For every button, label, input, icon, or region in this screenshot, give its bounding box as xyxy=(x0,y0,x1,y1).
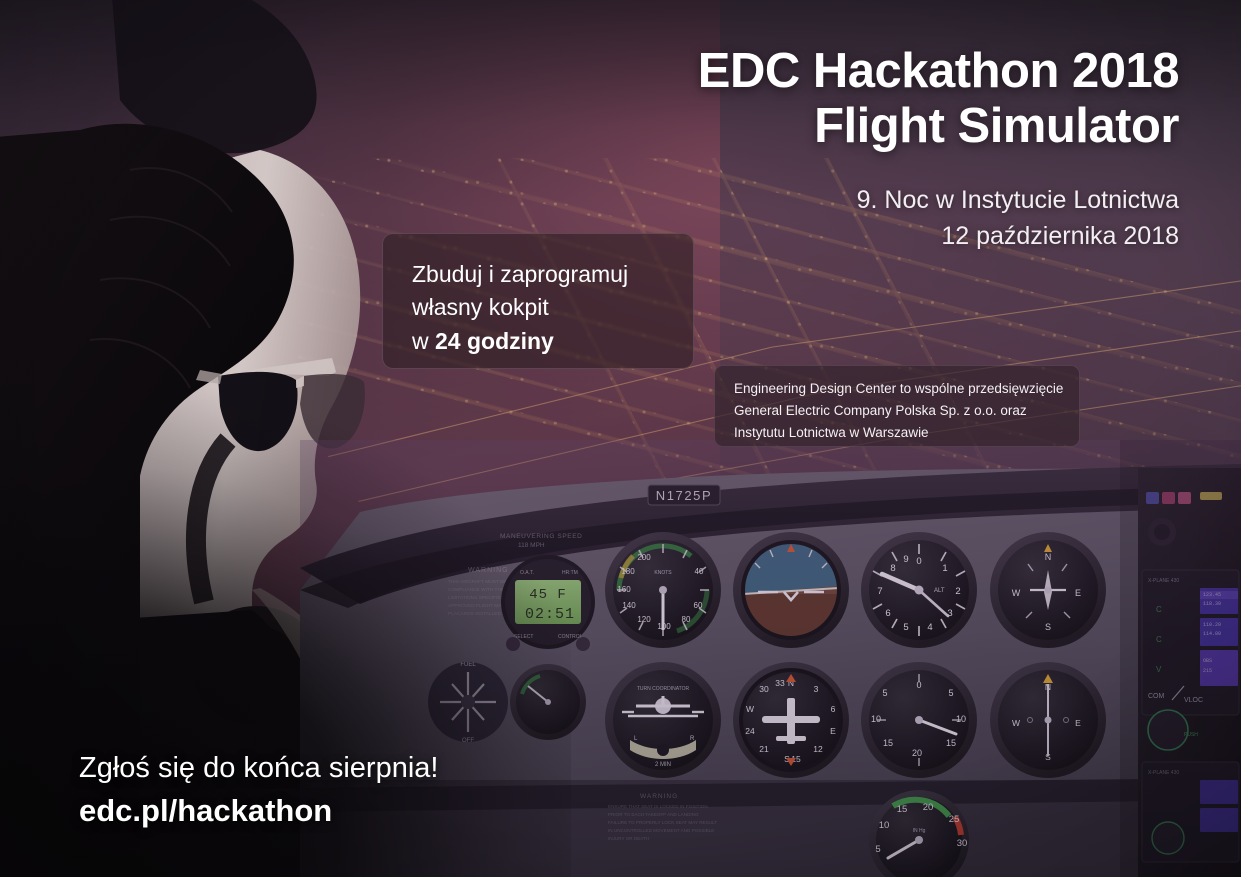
challenge-callout-box: Zbuduj i zaprogramuj własny kokpit w 24 … xyxy=(382,233,694,369)
callout-duration: 24 godziny xyxy=(435,328,554,354)
infobox-line-2: General Electric Company Polska Sp. z o.… xyxy=(734,400,1063,422)
headline-line-2: Flight Simulator xyxy=(698,99,1179,154)
page-title: EDC Hackathon 2018 Flight Simulator xyxy=(698,44,1179,154)
poster-root: N1725P MANEUVERING SPEED 118 MPH WARNING… xyxy=(0,0,1241,877)
callout-line-3: w 24 godziny xyxy=(412,325,667,358)
event-subtitle: 9. Noc w Instytucie Lotnictwa 12 paździe… xyxy=(857,183,1179,254)
callout-line-2: własny kokpit xyxy=(412,291,667,324)
cta-deadline-text: Zgłoś się do końca sierpnia! xyxy=(79,751,438,786)
headline-line-1: EDC Hackathon 2018 xyxy=(698,44,1179,98)
content-layer: EDC Hackathon 2018 Flight Simulator 9. N… xyxy=(0,0,1241,877)
infobox-line-1: Engineering Design Center to wspólne prz… xyxy=(734,378,1063,400)
infobox-line-3: Instytutu Lotnictwa w Warszawie xyxy=(734,422,1063,444)
event-date: 12 października 2018 xyxy=(857,219,1179,255)
callout-prefix: w xyxy=(412,328,435,354)
cta-url-link[interactable]: edc.pl/hackathon xyxy=(79,791,438,831)
callout-line-1: Zbuduj i zaprogramuj xyxy=(412,258,667,291)
event-name: 9. Noc w Instytucie Lotnictwa xyxy=(857,183,1179,219)
call-to-action: Zgłoś się do końca sierpnia! edc.pl/hack… xyxy=(79,751,438,832)
organizer-info-box: Engineering Design Center to wspólne prz… xyxy=(714,365,1080,447)
